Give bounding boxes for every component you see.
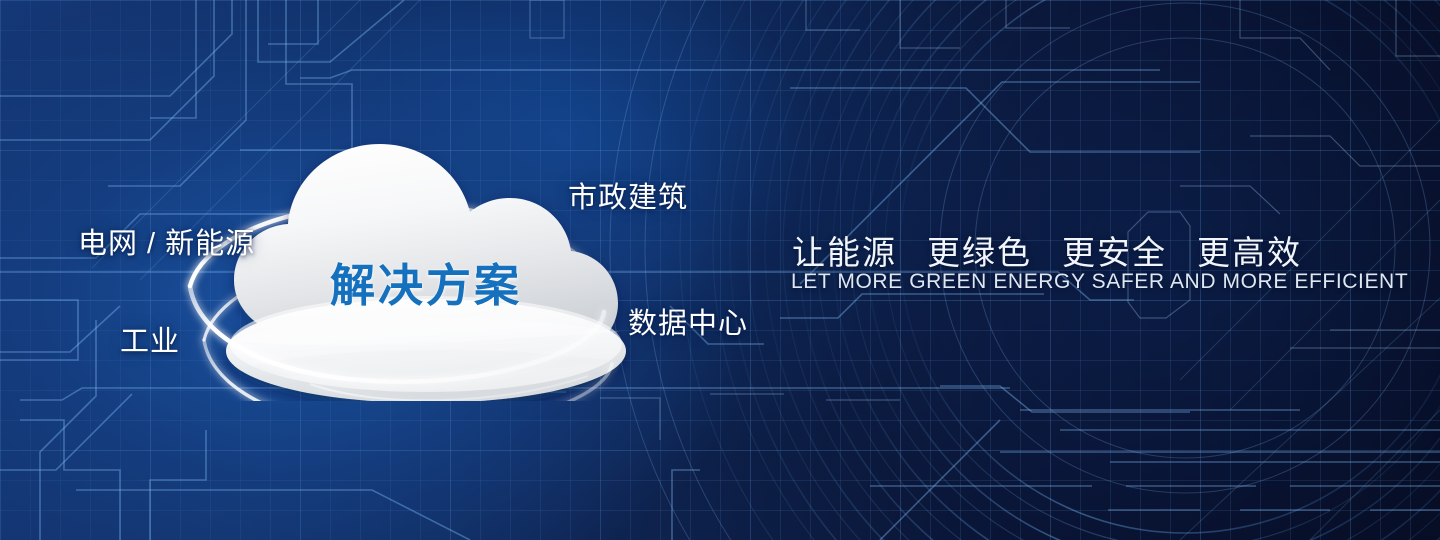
slogan-english: LET MORE GREEN ENERGY SAFER AND MORE EFF…: [791, 270, 1408, 294]
slogan-segment: 让能源: [792, 234, 897, 271]
slogan-segment: 更安全: [1062, 234, 1167, 271]
slogan-segment: 更绿色: [927, 234, 1032, 271]
label-civic-building: 市政建筑: [568, 174, 688, 216]
label-industry: 工业: [120, 318, 180, 360]
slogan-segment: 更高效: [1197, 234, 1302, 271]
slogan-chinese: 让能源更绿色更安全更高效: [792, 226, 1302, 274]
headline-solution: 解决方案: [330, 249, 522, 314]
solution-banner: 电网 / 新能源 工业 市政建筑 数据中心 解决方案 让能源更绿色更安全更高效 …: [0, 0, 1440, 540]
label-data-center: 数据中心: [628, 300, 748, 342]
label-grid-new-energy: 电网 / 新能源: [78, 220, 255, 262]
